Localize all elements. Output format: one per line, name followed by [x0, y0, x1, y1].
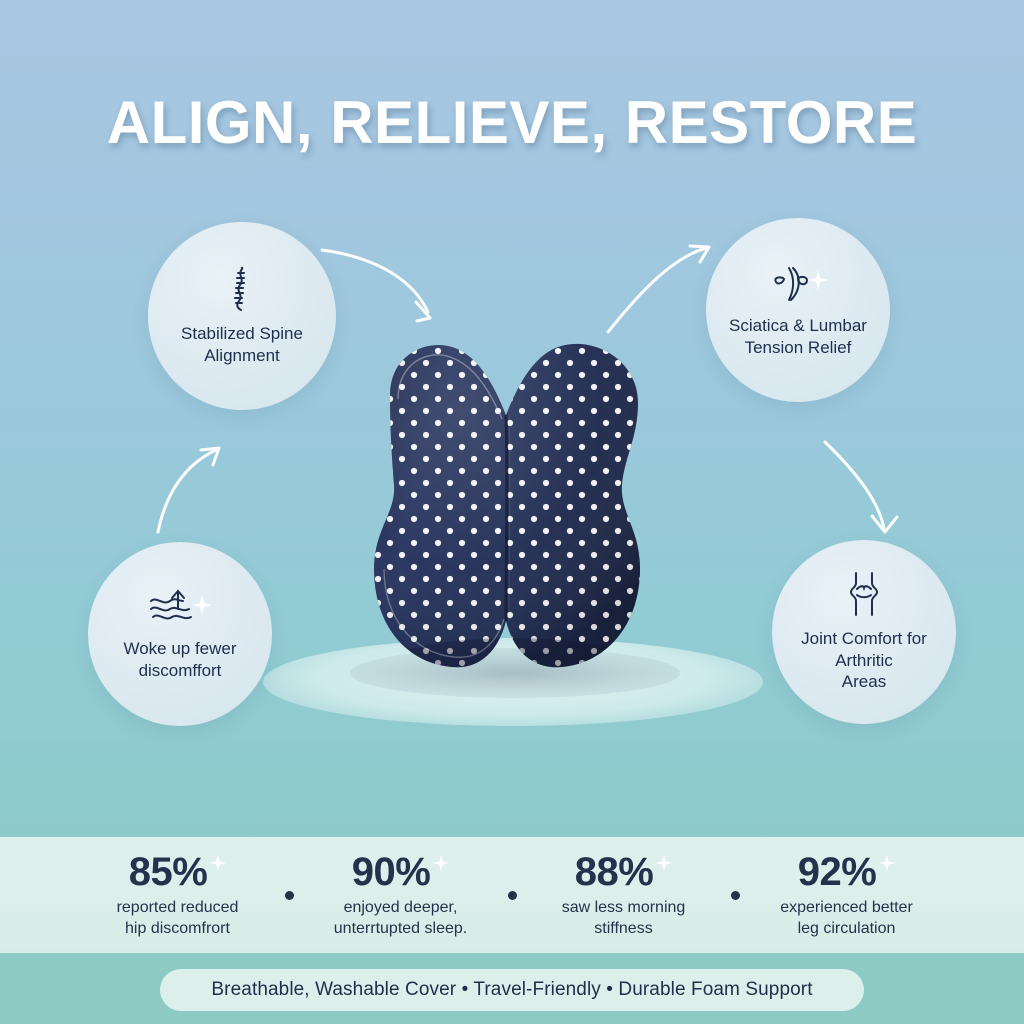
feature-label-spine: Stabilized Spine Alignment: [169, 323, 315, 367]
feature-label-woke-up: Woke up fewer discomffort: [111, 638, 248, 682]
feature-circle-woke-up[interactable]: Woke up fewer discomffort: [88, 542, 272, 726]
arrow-woke-to-product: [158, 448, 219, 532]
stat-item: 85% reported reduced hip discomfrort: [78, 851, 278, 940]
stat-description: experienced better leg circulation: [747, 898, 947, 940]
arrow-product-to-joint: [825, 442, 897, 532]
stat-separator-dot: [508, 891, 517, 900]
stat-value: 92%: [798, 851, 877, 893]
stat-item: 90% enjoyed deeper, unterrtupted sleep.: [301, 851, 501, 940]
sparkle-icon: [656, 855, 672, 871]
stat-item: 88% saw less morning stiffness: [524, 851, 724, 940]
stats-band: 85% reported reduced hip discomfrort 90%…: [0, 837, 1024, 953]
nerve-leaf-icon: [767, 262, 829, 309]
arrow-spine-to-product: [322, 250, 430, 321]
knee-joint-icon: [844, 571, 884, 622]
feature-label-joint: Joint Comfort for Arthritic Areas: [789, 628, 939, 693]
sparkle-icon: [433, 855, 449, 871]
stat-description: reported reduced hip discomfrort: [78, 898, 278, 940]
waves-arrow-icon: [147, 587, 213, 632]
stat-description: enjoyed deeper, unterrtupted sleep.: [301, 898, 501, 940]
infographic-poster: ALIGN, RELIEVE, RESTORE: [0, 0, 1024, 1024]
stat-description: saw less morning stiffness: [524, 898, 724, 940]
stat-value: 90%: [352, 851, 431, 893]
feature-circle-sciatica[interactable]: Sciatica & Lumbar Tension Relief: [706, 218, 890, 402]
stat-separator-dot: [285, 891, 294, 900]
sparkle-icon: [879, 855, 895, 871]
feature-circle-spine[interactable]: Stabilized Spine Alignment: [148, 222, 336, 410]
product-image-knee-pillow: [348, 333, 678, 693]
footer-benefits-pill: Breathable, Washable Cover • Travel-Frie…: [160, 969, 864, 1011]
feature-label-sciatica: Sciatica & Lumbar Tension Relief: [717, 315, 879, 359]
feature-circle-joint[interactable]: Joint Comfort for Arthritic Areas: [772, 540, 956, 724]
spine-icon: [225, 266, 259, 317]
stat-separator-dot: [731, 891, 740, 900]
sparkle-icon: [210, 855, 226, 871]
arrow-product-to-sciatica: [608, 246, 709, 332]
page-title: ALIGN, RELIEVE, RESTORE: [0, 88, 1024, 157]
stat-item: 92% experienced better leg circulation: [747, 851, 947, 940]
stat-value: 88%: [575, 851, 654, 893]
stat-value: 85%: [129, 851, 208, 893]
